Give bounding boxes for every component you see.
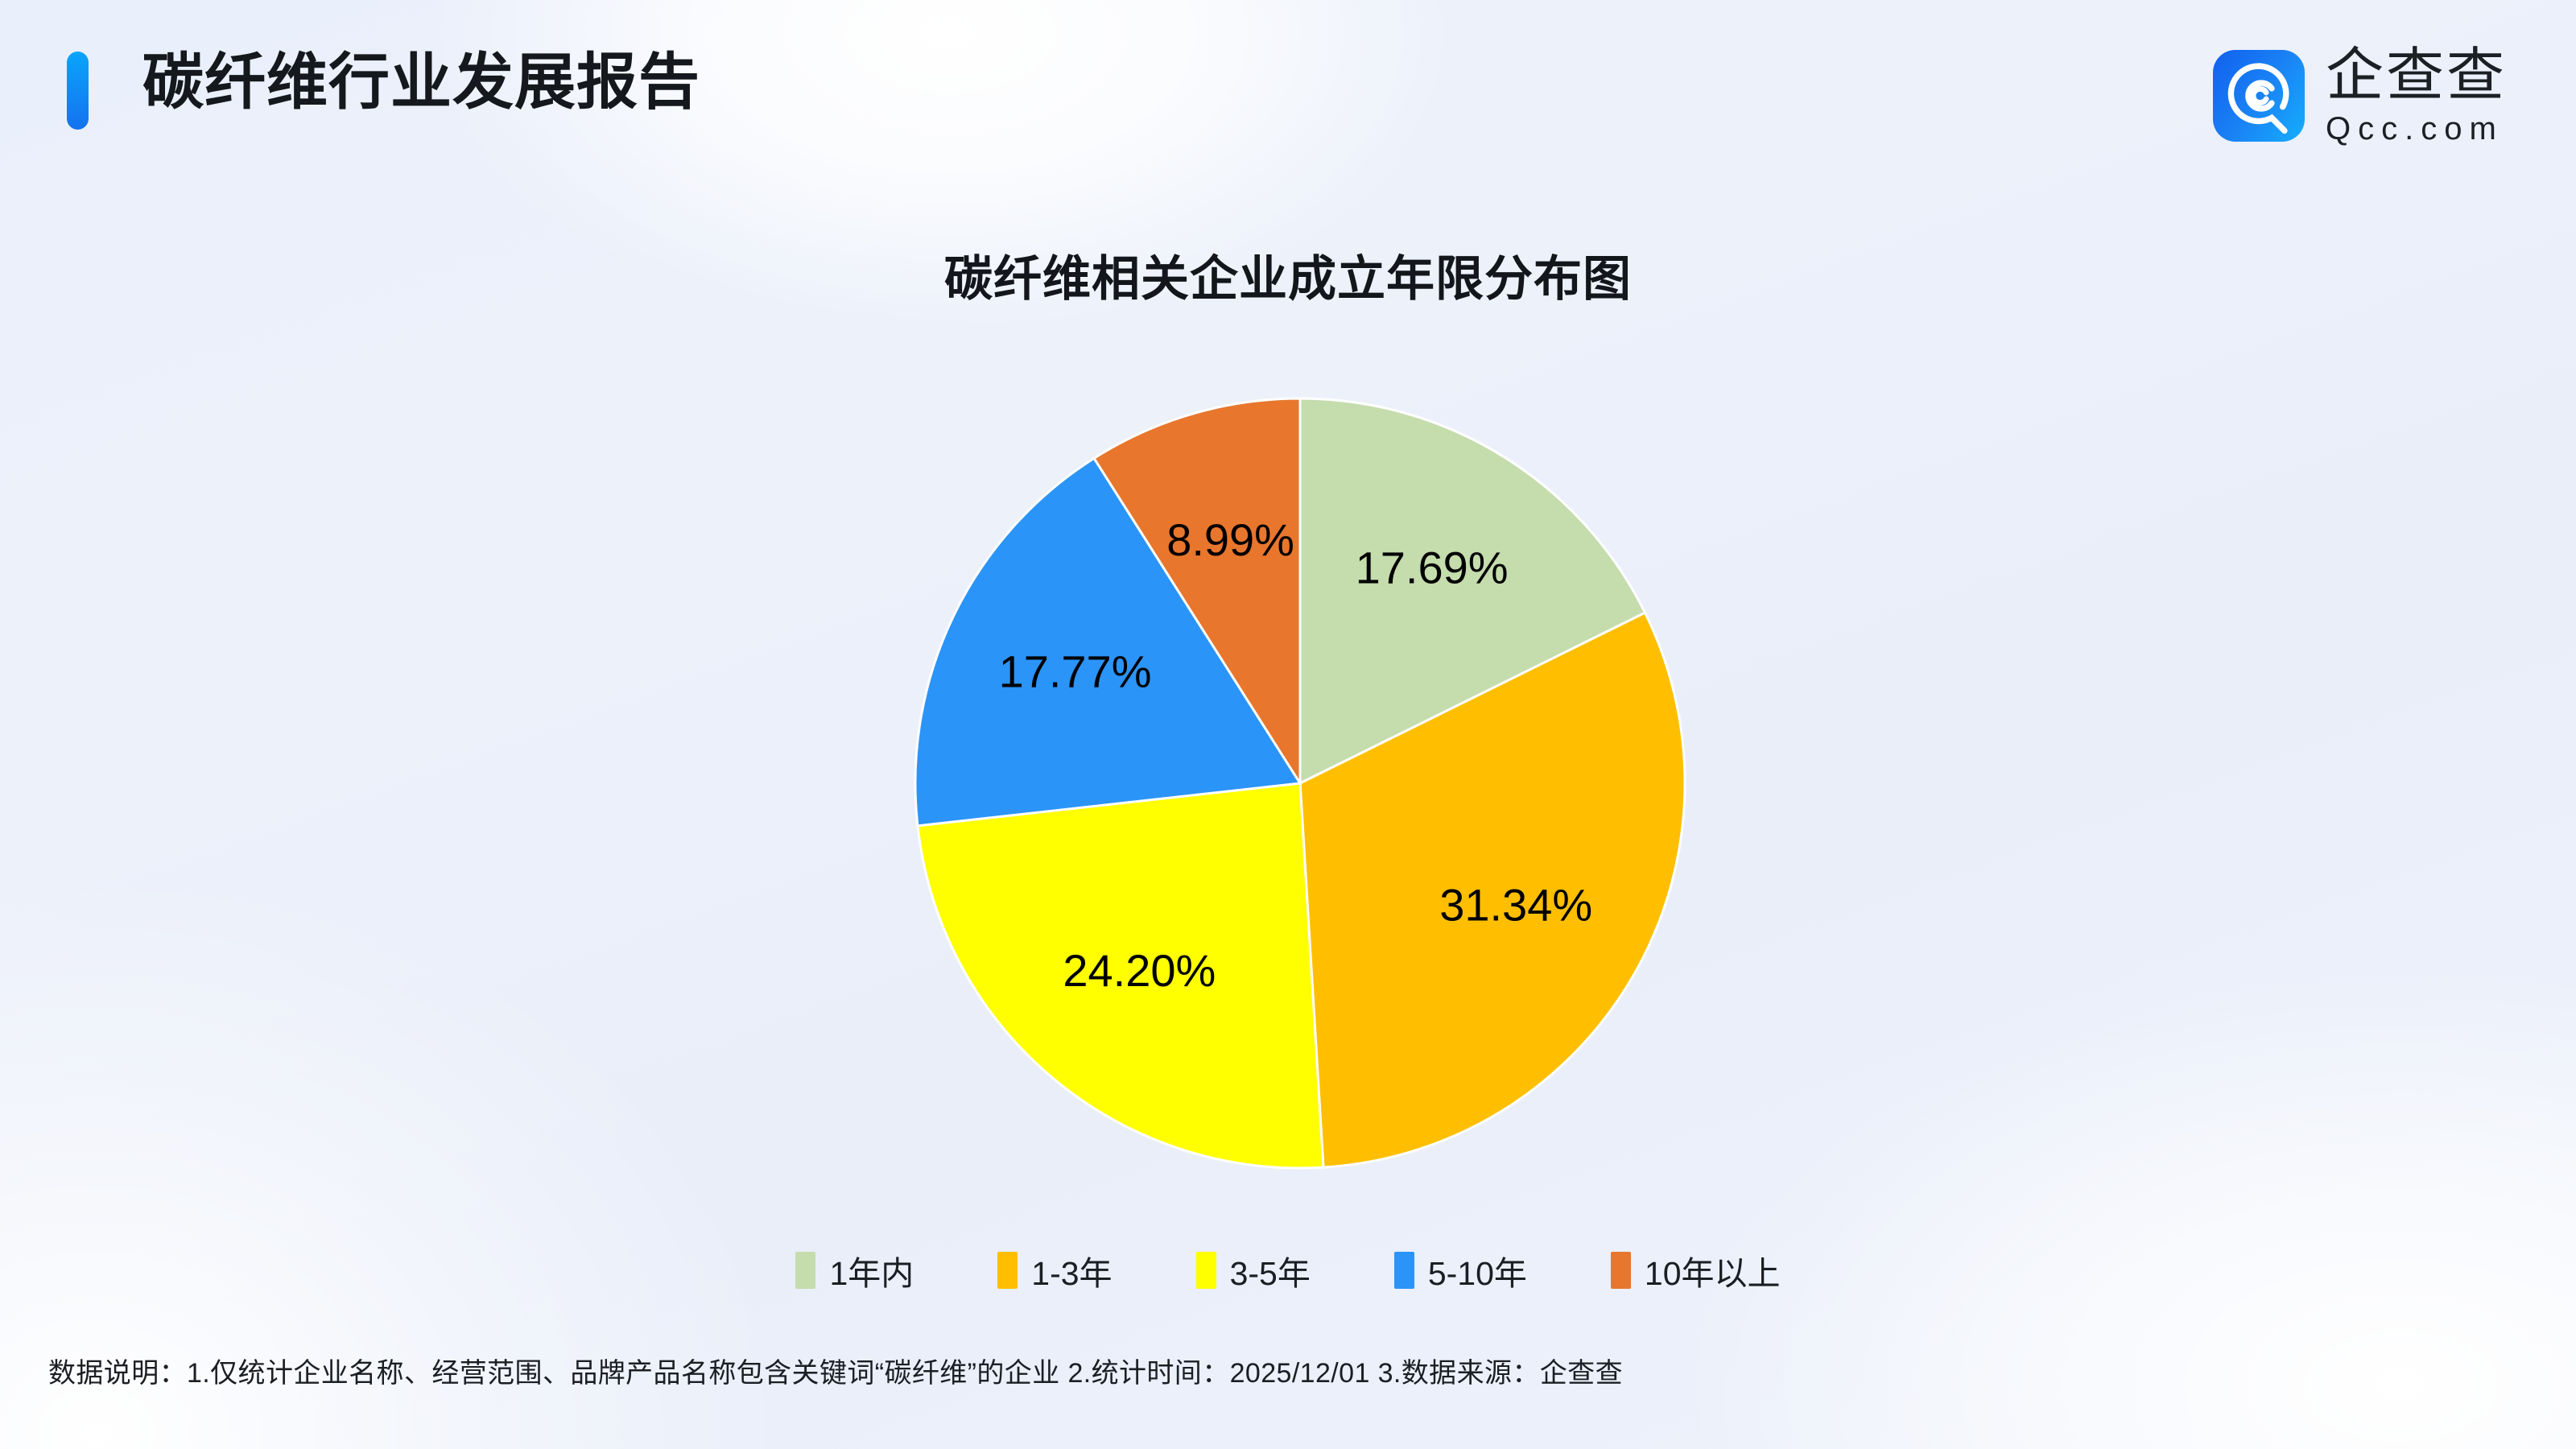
legend-item[interactable]: 3-5年 — [1196, 1246, 1311, 1294]
pie-slice-label: 17.77% — [999, 646, 1152, 697]
page-header: 碳纤维行业发展报告 企查查 Qcc.com — [0, 0, 2576, 185]
chart-title: 碳纤维相关企业成立年限分布图 — [0, 240, 2576, 310]
pie-chart-svg: 17.69%31.34%24.20%17.77%8.99% — [902, 385, 1699, 1182]
brand-name-cn: 企查查 — [2326, 47, 2507, 105]
legend-item-label: 5-10年 — [1428, 1246, 1527, 1294]
report-page: 碳纤维行业发展报告 企查查 Qcc.com 碳纤维相关企业成立年限分布图 — [0, 0, 2576, 1449]
legend-item[interactable]: 1-3年 — [997, 1246, 1112, 1294]
brand-logo-text: 企查查 Qcc.com — [2326, 47, 2507, 145]
legend-swatch-icon — [997, 1252, 1018, 1289]
legend-item[interactable]: 1年内 — [795, 1246, 914, 1294]
legend-item-label: 10年以上 — [1645, 1246, 1781, 1294]
legend-item[interactable]: 10年以上 — [1611, 1246, 1781, 1294]
legend-swatch-icon — [1196, 1252, 1216, 1289]
legend-item-label: 1年内 — [829, 1246, 914, 1294]
legend-swatch-icon — [1611, 1252, 1631, 1289]
legend-item[interactable]: 5-10年 — [1394, 1246, 1527, 1294]
pie-slice-group — [915, 398, 1685, 1168]
pie-slice-label: 17.69% — [1356, 542, 1509, 592]
title-accent-bar — [67, 52, 89, 130]
legend-item-label: 3-5年 — [1230, 1246, 1311, 1294]
pie-slice-label: 24.20% — [1063, 945, 1216, 996]
page-title: 碳纤维行业发展报告 — [142, 39, 700, 127]
pie-slice-label: 8.99% — [1166, 514, 1294, 565]
data-note: 数据说明：1.仅统计企业名称、经营范围、品牌产品名称包含关键词“碳纤维”的企业 … — [48, 1351, 1623, 1390]
brand-logo: 企查查 Qcc.com — [2213, 47, 2507, 145]
legend-swatch-icon — [1394, 1252, 1414, 1289]
legend-item-label: 1-3年 — [1031, 1246, 1112, 1294]
chart-legend: 1年内1-3年3-5年5-10年10年以上 — [0, 1246, 2576, 1294]
pie-chart: 17.69%31.34%24.20%17.77%8.99% — [902, 385, 1699, 1182]
qcc-target-logo-icon — [2213, 50, 2305, 142]
pie-slice-label: 31.34% — [1439, 879, 1592, 930]
legend-swatch-icon — [795, 1252, 815, 1289]
brand-name-en: Qcc.com — [2326, 113, 2507, 145]
